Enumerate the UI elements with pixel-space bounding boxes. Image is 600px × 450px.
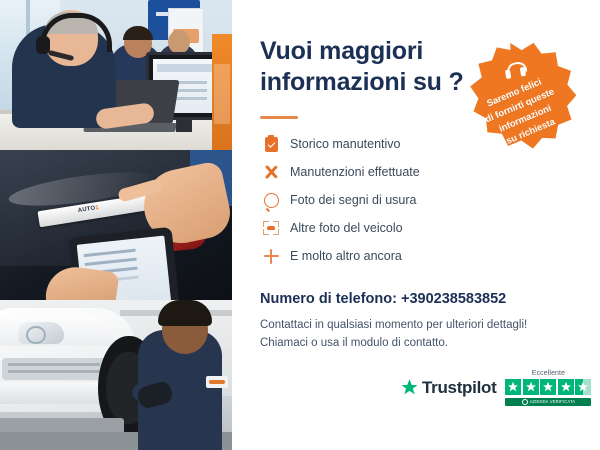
magnifier-icon [260, 190, 282, 210]
vehicle-inspection-photo: AUTO1 [0, 150, 232, 300]
list-item: Foto dei segni di usura [260, 188, 510, 212]
star-box-partial [575, 379, 591, 395]
list-item-label: E molto altro ancora [290, 249, 402, 263]
contact-information-poster: AUTO1 [0, 0, 600, 450]
trustpilot-rating: Eccellente AZIENDA VERIFICATA [505, 370, 591, 406]
callout-badge: Saremo felici di fornirti queste informa… [449, 30, 593, 178]
trustpilot-star-icon [400, 378, 419, 397]
list-item-label: Foto dei segni di usura [290, 193, 416, 207]
list-item-label: Manutenzioni effettuate [290, 165, 420, 179]
photo-column: AUTO1 [0, 0, 232, 450]
car-grille [2, 358, 106, 380]
trustpilot-widget[interactable]: Trustpilot Eccellente AZIENDA VERIFICATA [400, 370, 591, 406]
star-box [558, 379, 574, 395]
car-bumper [0, 382, 112, 404]
star-box [540, 379, 556, 395]
content-panel: Vuoi maggiori informazioni su ? Storico … [232, 0, 600, 450]
trustpilot-stars [505, 379, 591, 395]
background-agent-three-head [168, 30, 190, 54]
star-box [523, 379, 539, 395]
trustpilot-logo: Trustpilot [400, 378, 496, 398]
title-underline-rule [260, 116, 298, 119]
call-center-agents-photo [0, 0, 232, 150]
monitor-stand [176, 118, 192, 132]
tools-cross-icon [260, 162, 282, 182]
list-item: Altre foto del veicolo [260, 216, 510, 240]
headset-icon [504, 61, 526, 80]
star-box [505, 379, 521, 395]
verified-company-badge: AZIENDA VERIFICATA [505, 398, 591, 406]
plus-icon [260, 246, 282, 266]
orange-partition [212, 34, 232, 150]
contact-description: Contattaci in qualsiasi momento per ulte… [260, 317, 560, 353]
clipboard-check-icon [260, 134, 282, 154]
phone-number-label[interactable]: Numero di telefono: +390238583852 [260, 291, 506, 307]
trustpilot-wordmark: Trustpilot [422, 378, 496, 398]
verified-company-label: AZIENDA VERIFICATA [530, 399, 576, 404]
mechanic-wheel-photo [0, 300, 232, 450]
list-item-label: Storico manutentivo [290, 137, 400, 151]
list-item: E molto altro ancora [260, 244, 510, 268]
scan-vehicle-icon [260, 218, 282, 238]
car-headlight [18, 322, 64, 344]
mechanic-hair [158, 300, 212, 326]
contact-description-line-2: Chiamaci o usa il modulo di contatto. [260, 335, 560, 353]
verified-check-icon [522, 399, 528, 405]
ruler-brand-text: AUTO1 [77, 205, 99, 214]
list-item-label: Altre foto del veicolo [290, 221, 403, 235]
contact-description-line-1: Contattaci in qualsiasi momento per ulte… [260, 317, 560, 335]
trustpilot-rating-label: Eccellente [505, 370, 591, 377]
uniform-logo-patch [206, 376, 228, 388]
